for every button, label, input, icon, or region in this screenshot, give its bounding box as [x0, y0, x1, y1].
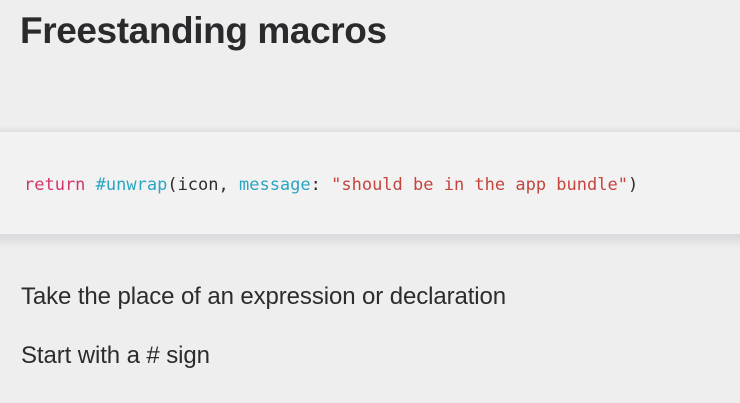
bullet-item: Take the place of an expression or decla…: [21, 281, 506, 313]
code-block-bottom-shadow: [0, 234, 740, 248]
page-title: Freestanding macros: [20, 6, 387, 56]
code-token-space: [85, 175, 95, 195]
code-token-args: (icon,: [167, 175, 239, 195]
code-token-macro: #unwrap: [96, 175, 168, 195]
code-line: return #unwrap(icon, message: "should be…: [24, 172, 638, 198]
presentation-slide: Freestanding macros return #unwrap(icon,…: [0, 0, 740, 403]
bullet-item: Start with a # sign: [21, 340, 210, 372]
code-token-colon: :: [311, 175, 331, 195]
code-token-paren: ): [628, 175, 638, 195]
code-token-string: "should be in the app bundle": [331, 175, 628, 195]
code-token-keyword: return: [24, 175, 85, 195]
code-token-label: message: [239, 175, 311, 195]
